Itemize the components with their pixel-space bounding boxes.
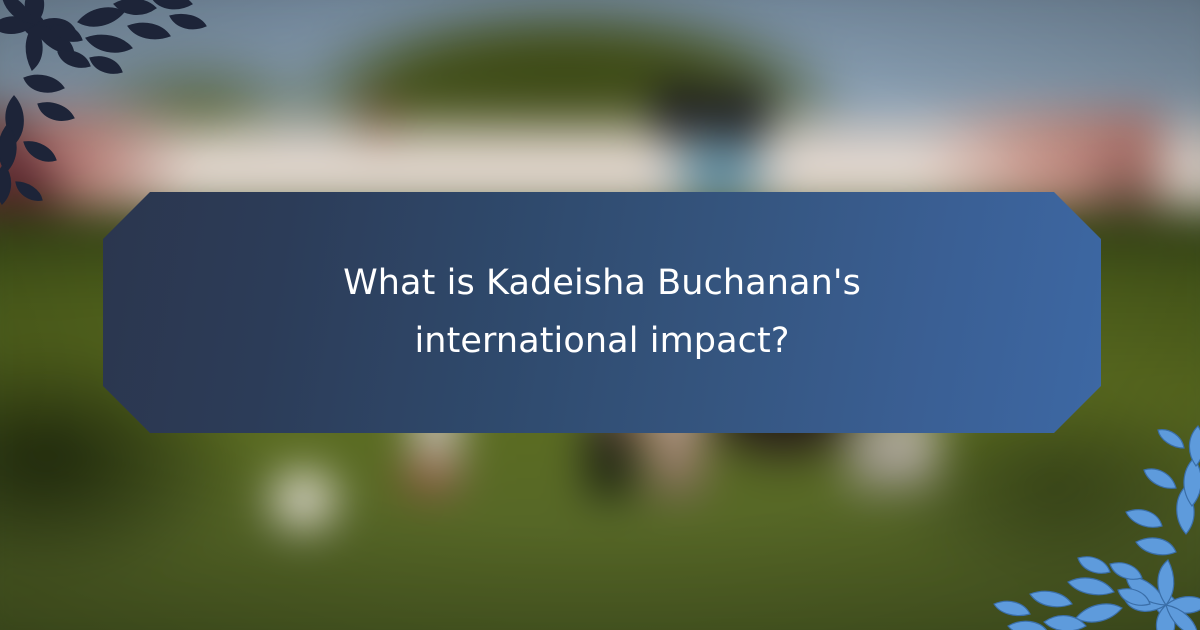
background-soccer-ball [272, 472, 336, 530]
background-player-head-center [352, 90, 404, 146]
background-player-boot-a [392, 460, 462, 496]
question-card: What is Kadeisha Buchanan's internationa… [103, 192, 1101, 433]
background-player-head-a [650, 80, 712, 142]
question-title: What is Kadeisha Buchanan's internationa… [237, 255, 967, 369]
screenshot-canvas: What is Kadeisha Buchanan's internationa… [0, 0, 1200, 630]
